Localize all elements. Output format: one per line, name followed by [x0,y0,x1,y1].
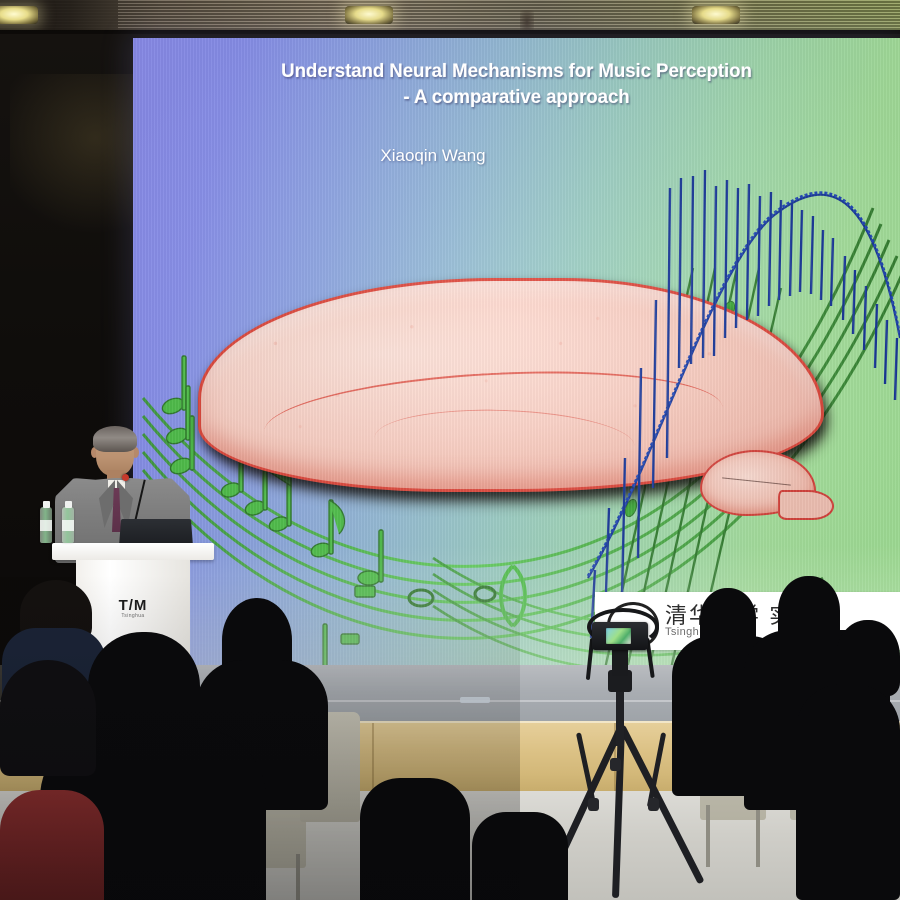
microphone-head [122,474,129,481]
chair-leg [756,805,760,867]
stage-floor-marker [460,697,490,703]
tripod-center-column [616,688,624,746]
tripod-lock-knob[interactable] [610,758,621,771]
water-bottle[interactable] [62,507,74,543]
ceiling-spotlight [345,6,393,24]
audience-body-red-top [0,790,104,900]
bottle-label [62,520,74,531]
camera-lcd-screen[interactable] [606,628,631,644]
speaker-hair [93,426,137,452]
bottle-label [40,520,52,531]
camera-tripod[interactable] [560,608,690,900]
bottle-cap [65,501,72,508]
bottle-cap [43,501,50,508]
tripod-lock-knob[interactable] [648,798,659,811]
stage-panel-seam [372,723,374,791]
lecture-hall-photo: Understand Neural Mechanisms for Music P… [0,0,900,900]
audience-body [796,684,900,900]
chair-leg [296,854,300,900]
ceiling-spotlight [0,6,38,24]
podium-logo-subtext: Tsinghua [76,613,190,619]
slide-title-line-1: Understand Neural Mechanisms for Music P… [148,58,884,84]
tripod-leg [612,726,625,898]
ceiling-panel [0,0,900,34]
chair-leg [706,805,710,867]
ceiling-spotlight [692,6,740,24]
water-bottle[interactable] [40,507,52,543]
camera-mount [612,648,628,676]
audience-head [0,660,96,776]
tripod-lock-knob[interactable] [588,798,599,811]
projection-screen: Understand Neural Mechanisms for Music P… [133,38,900,665]
slide-title: Understand Neural Mechanisms for Music P… [148,58,884,110]
slide-title-line-2: - A comparative approach [148,84,884,110]
audience-body [360,778,470,900]
podium-top-surface [52,543,214,560]
slide-author-name: Xiaoqin Wang [133,146,733,166]
audience-bag [472,812,568,900]
